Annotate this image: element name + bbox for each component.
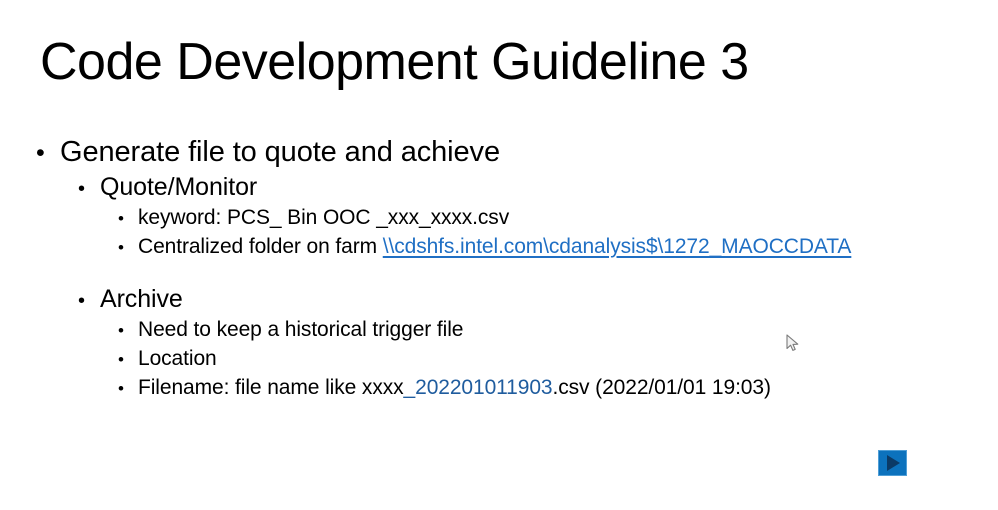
list-item-label: Generate file to quote and achieve	[60, 133, 500, 171]
page-title: Code Development Guideline 3	[40, 33, 960, 93]
list-item-label: Need to keep a historical trigger file	[138, 315, 463, 344]
bullet-dot-icon: •	[36, 141, 60, 166]
list-item: • keyword: PCS_ Bin OOC _xxx_xxxx.csv	[118, 203, 976, 232]
list-item: • Location	[118, 344, 976, 373]
filename-prefix-text: Filename: file name like xxxx	[138, 376, 404, 399]
list-item-prefix-text: Centralized folder on farm	[138, 235, 383, 258]
list-item-label: Centralized folder on farm \\cdshfs.inte…	[138, 232, 851, 261]
bullet-dot-icon: •	[118, 322, 138, 339]
list-item-label: Quote/Monitor	[100, 171, 257, 203]
play-button[interactable]	[878, 450, 907, 476]
presentation-slide: Code Development Guideline 3 • Generate …	[0, 0, 998, 510]
bullet-dot-icon: •	[118, 210, 138, 227]
list-item: • Archive	[78, 283, 976, 315]
list-item-label: Location	[138, 344, 217, 373]
bullet-dot-icon: •	[118, 239, 138, 256]
list-item: • Generate file to quote and achieve	[36, 133, 976, 171]
content-spacer	[36, 261, 976, 283]
list-item-label: Archive	[100, 283, 183, 315]
list-item: • Need to keep a historical trigger file	[118, 315, 976, 344]
list-item: • Quote/Monitor	[78, 171, 976, 203]
play-triangle-icon	[887, 455, 900, 471]
list-item: • Filename: file name like xxxx_20220101…	[118, 373, 976, 402]
list-item-label: keyword: PCS_ Bin OOC _xxx_xxxx.csv	[138, 203, 509, 232]
list-item-label: Filename: file name like xxxx_2022010119…	[138, 373, 771, 402]
filename-timestamp-text: _202201011903	[404, 376, 553, 399]
list-item: • Centralized folder on farm \\cdshfs.in…	[118, 232, 976, 261]
network-folder-hyperlink[interactable]: \\cdshfs.intel.com\cdanalysis$\1272_MAOC…	[383, 235, 852, 258]
filename-suffix-text: .csv (2022/01/01 19:03)	[553, 376, 771, 399]
bullet-dot-icon: •	[118, 380, 138, 397]
slide-body-content: • Generate file to quote and achieve • Q…	[36, 133, 976, 402]
bullet-dot-icon: •	[118, 351, 138, 368]
bullet-dot-icon: •	[78, 291, 100, 311]
bullet-dot-icon: •	[78, 179, 100, 199]
